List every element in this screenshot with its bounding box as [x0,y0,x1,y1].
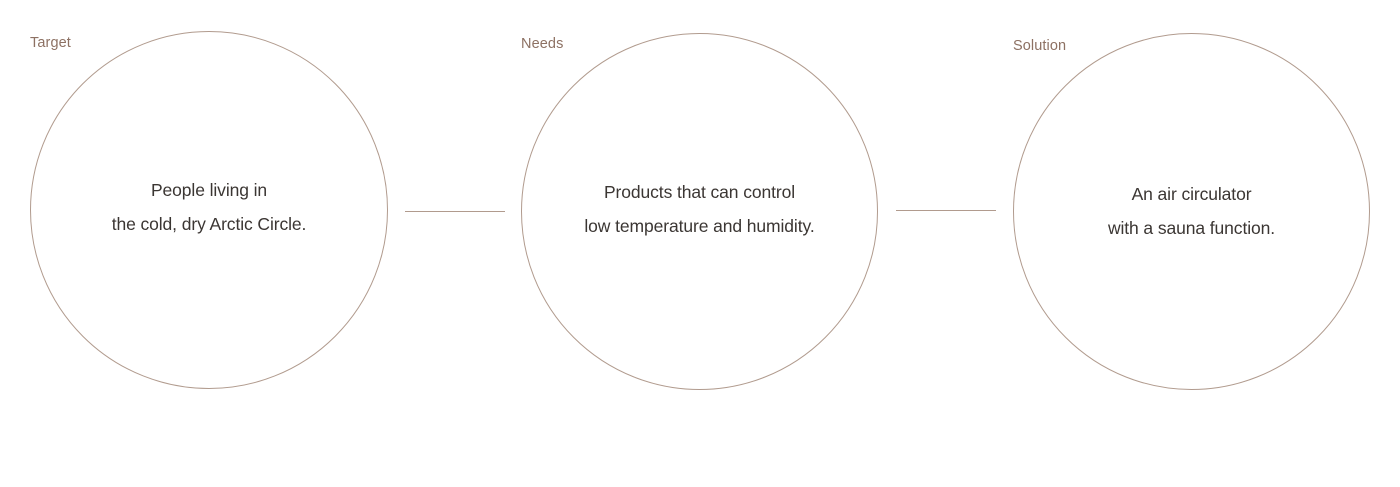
node-text-line: Products that can control [521,175,878,209]
node-text-line: People living in [30,173,388,207]
node-text-line: with a sauna function. [1013,211,1370,245]
connector-target-to-needs [405,211,505,212]
node-text-line: An air circulator [1013,177,1370,211]
node-label-target: Target [30,36,71,51]
connector-needs-to-solution [896,210,996,211]
node-label-solution: Solution [1013,39,1066,54]
node-text-target: People living in the cold, dry Arctic Ci… [30,173,388,241]
diagram-canvas: Target People living in the cold, dry Ar… [0,0,1400,487]
node-text-line: low temperature and humidity. [521,209,878,243]
node-label-needs: Needs [521,37,563,52]
node-text-solution: An air circulator with a sauna function. [1013,177,1370,245]
node-text-line: the cold, dry Arctic Circle. [30,207,388,241]
node-text-needs: Products that can control low temperatur… [521,175,878,243]
